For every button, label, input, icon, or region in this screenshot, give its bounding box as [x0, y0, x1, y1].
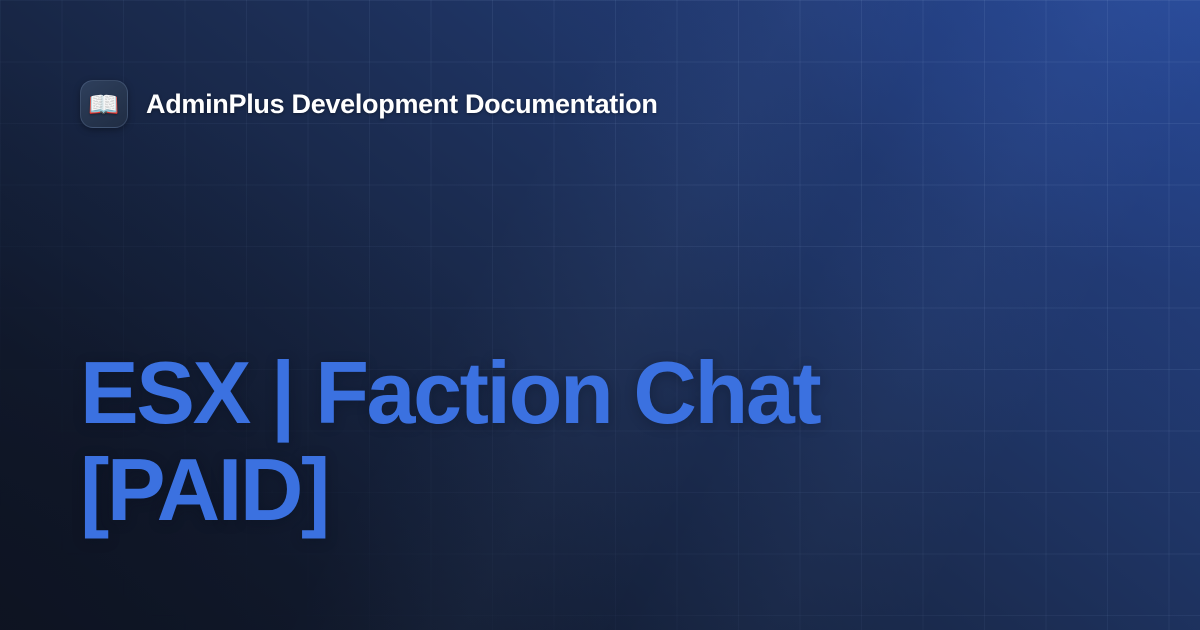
hero-section: ESX | Faction Chat [PAID]: [80, 344, 1080, 538]
brand-badge: 📖: [80, 80, 128, 128]
site-header: 📖 AdminPlus Development Documentation: [80, 80, 658, 128]
og-card: 📖 AdminPlus Development Documentation ES…: [0, 0, 1200, 630]
brand-title: AdminPlus Development Documentation: [146, 89, 658, 120]
page-title: ESX | Faction Chat [PAID]: [80, 344, 1080, 538]
open-book-icon: 📖: [88, 92, 119, 117]
